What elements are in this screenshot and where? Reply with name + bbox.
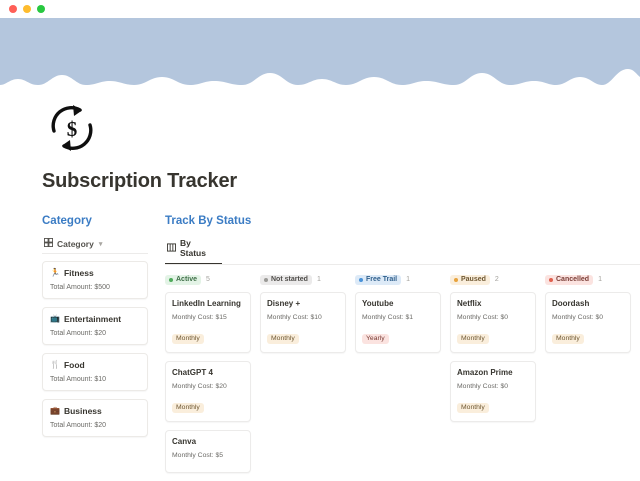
status-view-tab-row: By Status (165, 235, 640, 265)
card-title: Doordash (552, 299, 624, 308)
card-frequency-badge: Monthly (172, 403, 204, 413)
board-column-paused: Paused 2 Netflix Monthly Cost: $0 Monthl… (450, 273, 536, 481)
column-header[interactable]: Free Trail 1 (355, 273, 441, 286)
list-item[interactable]: 📺 Entertainment Total Amount: $20 (42, 307, 148, 345)
category-card-name-row: 🏃 Fitness (50, 268, 140, 278)
status-section: Track By Status By Status (165, 215, 640, 481)
window-titlebar (0, 0, 640, 18)
board-column-active: Active 5 LinkedIn Learning Monthly Cost:… (165, 273, 251, 481)
card-frequency-badge: Monthly (552, 334, 584, 344)
status-label: Free Trail (366, 276, 397, 283)
category-card-amount: Total Amount: $20 (50, 330, 140, 337)
category-card-title: Business (64, 406, 102, 416)
status-badge: Free Trail (355, 275, 401, 285)
column-count: 2 (495, 276, 499, 283)
page-content: Category Category ▾ (0, 215, 640, 481)
card-cost: Monthly Cost: $5 (172, 452, 244, 459)
category-view-tab-row: Category ▾ (42, 235, 148, 254)
minimize-window-button[interactable] (23, 5, 31, 13)
card-title: Youtube (362, 299, 434, 308)
category-card-title: Fitness (64, 268, 94, 278)
board-column-cancelled: Cancelled 1 Doordash Monthly Cost: $0 Mo… (545, 273, 631, 481)
category-card-amount: Total Amount: $500 (50, 284, 140, 291)
page-body: $ Subscription Tracker Category C (0, 100, 640, 481)
status-dot-icon (454, 278, 458, 282)
category-card-title: Entertainment (64, 314, 121, 324)
tab-by-status[interactable]: By Status (165, 235, 222, 264)
board-column-free-trail: Free Trail 1 Youtube Monthly Cost: $1 Ye… (355, 273, 441, 481)
list-item[interactable]: LinkedIn Learning Monthly Cost: $15 Mont… (165, 292, 251, 353)
zoom-window-button[interactable] (37, 5, 45, 13)
column-count: 1 (598, 276, 602, 283)
list-item[interactable]: Canva Monthly Cost: $5 (165, 430, 251, 473)
status-dot-icon (169, 278, 173, 282)
board-icon (167, 243, 176, 254)
column-header[interactable]: Cancelled 1 (545, 273, 631, 286)
category-view-tab-label: Category (57, 239, 94, 249)
status-label: Active (176, 276, 197, 283)
list-item[interactable]: Disney + Monthly Cost: $10 Monthly (260, 292, 346, 353)
card-frequency-badge: Monthly (267, 334, 299, 344)
card-frequency-badge: Monthly (172, 334, 204, 344)
status-badge: Paused (450, 275, 490, 285)
cloud-scallop-shape (0, 63, 640, 88)
food-icon: 🍴 (50, 361, 60, 369)
status-badge: Not started (260, 275, 312, 285)
entertainment-icon: 📺 (50, 315, 60, 323)
status-dot-icon (359, 278, 363, 282)
column-header[interactable]: Not started 1 (260, 273, 346, 286)
tab-by-status-label: By Status (180, 238, 219, 258)
chevron-down-icon[interactable]: ▾ (99, 240, 103, 248)
list-item[interactable]: ChatGPT 4 Monthly Cost: $20 Monthly (165, 361, 251, 422)
dollar-recycle-icon: $ (44, 100, 100, 156)
status-board: Active 5 LinkedIn Learning Monthly Cost:… (165, 273, 640, 481)
card-title: Netflix (457, 299, 529, 308)
status-dot-icon (549, 278, 553, 282)
card-frequency-badge: Monthly (457, 334, 489, 344)
card-title: ChatGPT 4 (172, 368, 244, 377)
status-dot-icon (264, 278, 268, 282)
column-count: 5 (206, 276, 210, 283)
card-title: Canva (172, 437, 244, 446)
column-header[interactable]: Paused 2 (450, 273, 536, 286)
list-item[interactable]: Youtube Monthly Cost: $1 Yearly (355, 292, 441, 353)
card-cost: Monthly Cost: $1 (362, 314, 434, 321)
card-frequency-badge: Monthly (457, 403, 489, 413)
card-cost: Monthly Cost: $0 (457, 383, 529, 390)
category-section: Category Category ▾ (42, 215, 148, 481)
list-item[interactable]: Amazon Prime Monthly Cost: $0 Monthly (450, 361, 536, 422)
page-title: Subscription Tracker (42, 170, 640, 193)
status-label: Not started (271, 276, 308, 283)
card-title: Disney + (267, 299, 339, 308)
gallery-icon (44, 238, 53, 249)
board-column-not-started: Not started 1 Disney + Monthly Cost: $10… (260, 273, 346, 481)
page-cover-banner (0, 18, 640, 88)
category-card-amount: Total Amount: $20 (50, 422, 140, 429)
category-card-name-row: 📺 Entertainment (50, 314, 140, 324)
category-heading: Category (42, 215, 148, 227)
category-card-title: Food (64, 360, 85, 370)
status-label: Cancelled (556, 276, 589, 283)
svg-text:$: $ (67, 117, 78, 141)
category-tab-divider (42, 253, 148, 254)
column-count: 1 (406, 276, 410, 283)
list-item[interactable]: Netflix Monthly Cost: $0 Monthly (450, 292, 536, 353)
card-frequency-badge: Yearly (362, 334, 389, 344)
card-cost: Monthly Cost: $20 (172, 383, 244, 390)
close-window-button[interactable] (9, 5, 17, 13)
category-card-amount: Total Amount: $10 (50, 376, 140, 383)
card-cost: Monthly Cost: $10 (267, 314, 339, 321)
card-cost: Monthly Cost: $0 (457, 314, 529, 321)
category-card-name-row: 🍴 Food (50, 360, 140, 370)
card-title: Amazon Prime (457, 368, 529, 377)
category-view-tab[interactable]: Category ▾ (42, 235, 148, 253)
list-item[interactable]: 🍴 Food Total Amount: $10 (42, 353, 148, 391)
card-cost: Monthly Cost: $15 (172, 314, 244, 321)
card-cost: Monthly Cost: $0 (552, 314, 624, 321)
status-label: Paused (461, 276, 486, 283)
list-item[interactable]: 💼 Business Total Amount: $20 (42, 399, 148, 437)
status-badge: Cancelled (545, 275, 593, 285)
fitness-icon: 🏃 (50, 269, 60, 277)
list-item[interactable]: Doordash Monthly Cost: $0 Monthly (545, 292, 631, 353)
column-header[interactable]: Active 5 (165, 273, 251, 286)
category-card-name-row: 💼 Business (50, 406, 140, 416)
column-count: 1 (317, 276, 321, 283)
status-heading: Track By Status (165, 215, 640, 227)
list-item[interactable]: 🏃 Fitness Total Amount: $500 (42, 261, 148, 299)
status-badge: Active (165, 275, 201, 285)
business-icon: 💼 (50, 407, 60, 415)
card-title: LinkedIn Learning (172, 299, 244, 308)
